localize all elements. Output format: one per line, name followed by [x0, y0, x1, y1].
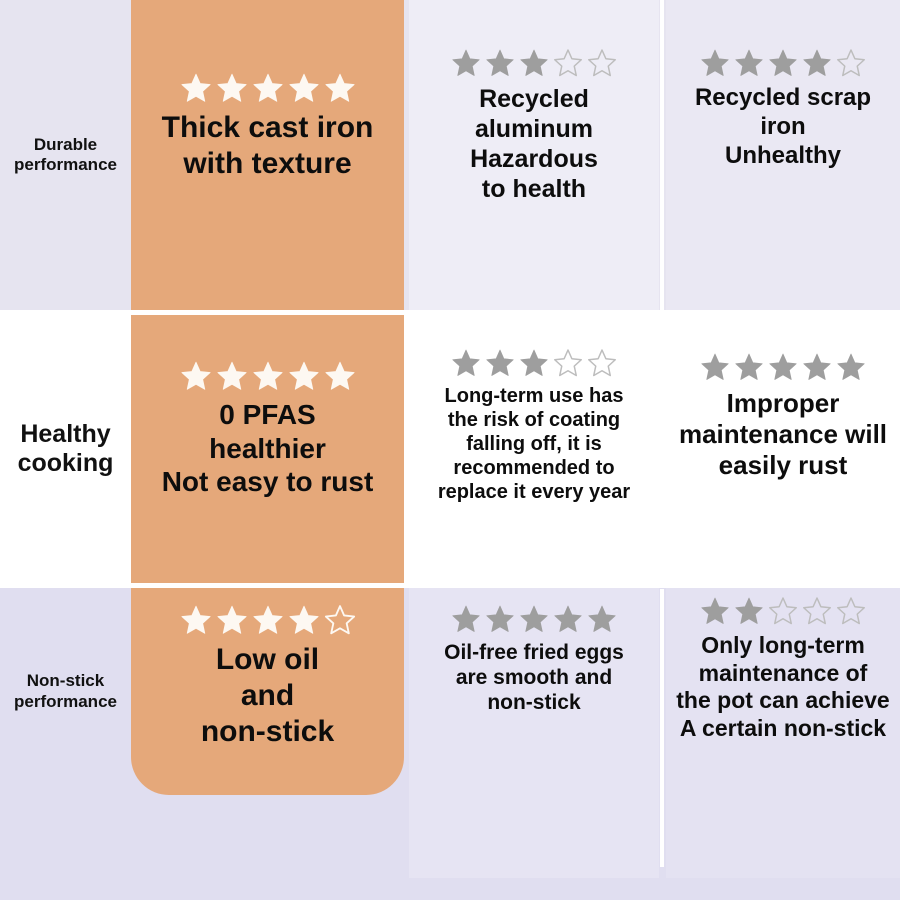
compare-a-line-4: to health [415, 174, 653, 204]
star-icon [836, 48, 866, 78]
star-icon [324, 72, 356, 104]
compare-b-line-1: Recycled scrap [672, 84, 894, 113]
compare-a-cell-row-3: Oil-free fried eggs are smooth and non-s… [409, 604, 659, 716]
star-icon [587, 348, 617, 378]
star-icon [288, 604, 320, 636]
star-rating-highlight-row-1 [131, 72, 404, 104]
row-label-line-1: Durable [14, 135, 117, 155]
star-icon [451, 48, 481, 78]
highlight-line-1: Thick cast iron [137, 110, 398, 146]
star-icon [700, 352, 730, 382]
compare-b-line-3: Unhealthy [672, 142, 894, 171]
compare-a-line-4: recommended to [415, 456, 653, 480]
star-icon [519, 604, 549, 634]
star-icon [324, 604, 356, 636]
star-icon [216, 604, 248, 636]
compare-b-line-1: Only long-term [672, 632, 894, 660]
star-icon [180, 604, 212, 636]
star-icon [519, 348, 549, 378]
star-icon [553, 48, 583, 78]
star-icon [734, 352, 764, 382]
compare-a-line-3: falling off, it is [415, 432, 653, 456]
highlight-line-3: Not easy to rust [137, 465, 398, 499]
star-icon [836, 352, 866, 382]
star-icon [288, 360, 320, 392]
column-divider-3 [660, 589, 664, 867]
highlight-line-3: non-stick [137, 714, 398, 750]
highlight-line-1: 0 PFAS [137, 398, 398, 432]
compare-a-line-2: aluminum [415, 114, 653, 144]
star-icon [324, 360, 356, 392]
compare-a-line-2: are smooth and [415, 665, 653, 690]
highlight-cell-row-1: Thick cast iron with texture [131, 72, 404, 182]
star-icon [587, 604, 617, 634]
compare-a-line-1: Long-term use has [415, 384, 653, 408]
column-divider-1 [660, 0, 664, 312]
compare-b-line-2: maintenance of [672, 660, 894, 688]
star-icon [734, 48, 764, 78]
compare-b-line-2: iron [672, 113, 894, 142]
row-label-durable-performance: Durable performance [0, 0, 131, 310]
star-icon [802, 596, 832, 626]
compare-b-cell-row-2: Improper maintenance will easily rust [666, 352, 900, 482]
compare-a-line-3: Hazardous [415, 144, 653, 174]
compare-b-line-3: the pot can achieve [672, 687, 894, 715]
row-label-line-1: Non-stick [14, 671, 117, 691]
star-icon [451, 348, 481, 378]
comparison-table: Durable performance Thick cast iron with… [0, 0, 900, 900]
star-icon [734, 596, 764, 626]
column-divider-2 [660, 316, 664, 583]
star-rating-compare-a-row-1 [409, 48, 659, 78]
row-label-line-1: Healthy [18, 420, 114, 450]
star-rating-compare-b-row-1 [666, 48, 900, 78]
highlight-line-2: and [137, 678, 398, 714]
compare-b-cell-row-1: Recycled scrap iron Unhealthy [666, 48, 900, 170]
row-label-healthy-cooking: Healthy cooking [0, 315, 131, 583]
star-icon [451, 604, 481, 634]
compare-a-line-1: Oil-free fried eggs [415, 640, 653, 665]
highlight-cell-row-2: 0 PFAS healthier Not easy to rust [131, 360, 404, 499]
star-icon [216, 72, 248, 104]
star-rating-compare-a-row-2 [409, 348, 659, 378]
star-icon [587, 48, 617, 78]
star-icon [180, 360, 212, 392]
star-icon [768, 48, 798, 78]
row-label-line-2: performance [14, 155, 117, 175]
star-icon [700, 48, 730, 78]
row-label-line-2: cooking [18, 449, 114, 479]
highlight-cell-row-3: Low oil and non-stick [131, 604, 404, 750]
star-icon [768, 596, 798, 626]
highlight-line-2: healthier [137, 432, 398, 466]
star-icon [485, 348, 515, 378]
compare-b-line-2: maintenance will [672, 419, 894, 450]
star-icon [836, 596, 866, 626]
star-icon [519, 48, 549, 78]
star-icon [485, 604, 515, 634]
compare-a-line-1: Recycled [415, 84, 653, 114]
compare-a-cell-row-2: Long-term use has the risk of coating fa… [409, 348, 659, 504]
star-icon [288, 72, 320, 104]
star-icon [553, 348, 583, 378]
compare-b-cell-row-3: Only long-term maintenance of the pot ca… [666, 596, 900, 742]
star-icon [252, 604, 284, 636]
star-icon [485, 48, 515, 78]
star-icon [180, 72, 212, 104]
row-label-non-stick-performance: Non-stick performance [0, 588, 131, 795]
star-icon [802, 48, 832, 78]
row-label-line-2: performance [14, 692, 117, 712]
star-rating-compare-b-row-3 [666, 596, 900, 626]
highlight-line-2: with texture [137, 146, 398, 182]
compare-a-line-3: non-stick [415, 690, 653, 715]
star-icon [553, 604, 583, 634]
star-icon [802, 352, 832, 382]
star-rating-compare-b-row-2 [666, 352, 900, 382]
star-rating-highlight-row-3 [131, 604, 404, 636]
star-icon [252, 72, 284, 104]
highlight-line-1: Low oil [137, 642, 398, 678]
compare-b-line-3: easily rust [672, 450, 894, 481]
star-icon [216, 360, 248, 392]
star-rating-highlight-row-2 [131, 360, 404, 392]
star-rating-compare-a-row-3 [409, 604, 659, 634]
compare-a-line-5: replace it every year [415, 480, 653, 504]
compare-a-cell-row-1: Recycled aluminum Hazardous to health [409, 48, 659, 204]
compare-b-line-1: Improper [672, 388, 894, 419]
star-icon [768, 352, 798, 382]
compare-b-line-4: A certain non-stick [672, 715, 894, 743]
star-icon [700, 596, 730, 626]
compare-a-line-2: the risk of coating [415, 408, 653, 432]
star-icon [252, 360, 284, 392]
